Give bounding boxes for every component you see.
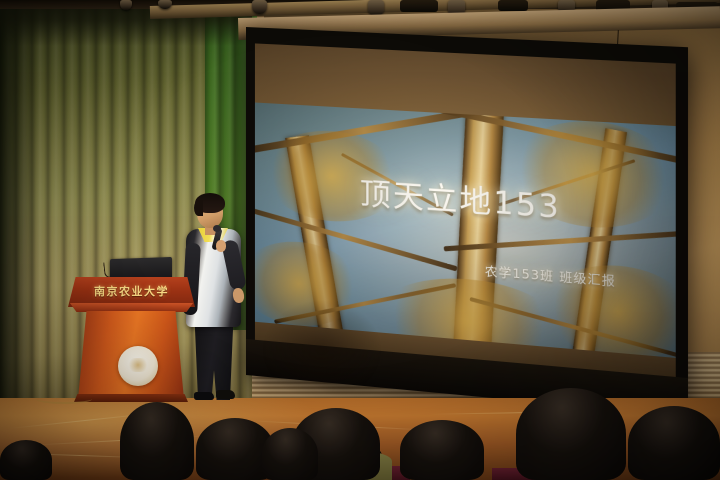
presenter-hair-side <box>194 200 203 216</box>
floor-cable <box>36 394 92 404</box>
audience-member-head <box>516 388 626 480</box>
audience-member-head <box>400 420 484 480</box>
presenter-shoe-left <box>194 392 214 400</box>
presenter-hand-holding-mic <box>216 240 226 252</box>
presenter-shoe-right <box>216 390 235 399</box>
stage-light-icon <box>252 0 267 14</box>
audience-member-head <box>628 406 720 480</box>
audience-member-head <box>0 440 52 480</box>
university-seal-icon <box>118 346 158 386</box>
audience-member-head <box>262 428 318 480</box>
microphone-head-icon <box>213 225 221 232</box>
auditorium-photo-scene: 顶天立地153 农学153班 班级汇报 南京农业大学 <box>0 0 720 480</box>
podium-inscription: 南京农业大学 <box>68 283 195 299</box>
stage-light-icon <box>400 0 438 12</box>
podium-lip <box>66 303 197 312</box>
audience-member-head <box>120 402 194 480</box>
stage-light-icon <box>498 0 528 11</box>
presenter-cast-shadow <box>262 300 382 400</box>
curtain-shadow-left <box>0 0 40 405</box>
